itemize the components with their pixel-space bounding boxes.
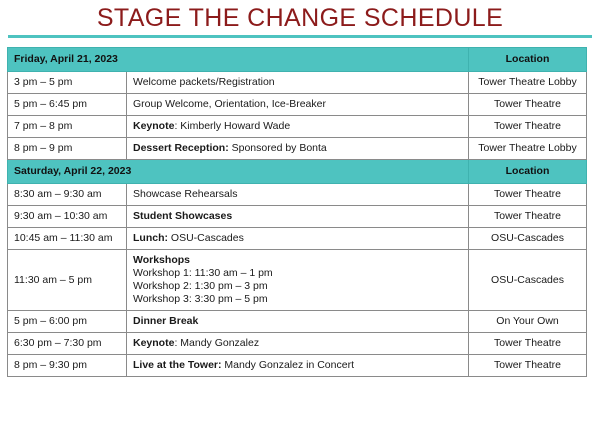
row-event: Keynote: Mandy Gonzalez bbox=[127, 333, 469, 355]
row-time: 8 pm – 9:30 pm bbox=[8, 355, 127, 377]
row-event: Lunch: OSU-Cascades bbox=[127, 228, 469, 250]
schedule-page: STAGE THE CHANGE SCHEDULE Friday, April … bbox=[0, 0, 600, 429]
row-event-lead: Keynote bbox=[133, 120, 174, 132]
row-location: OSU-Cascades bbox=[469, 228, 587, 250]
workshop-line-list: Workshop 1: 11:30 am – 1 pm Workshop 2: … bbox=[133, 267, 462, 306]
row-event-lead: Dessert Reception: bbox=[133, 142, 229, 154]
row-time: 11:30 am – 5 pm bbox=[8, 250, 127, 311]
row-event: Live at the Tower: Mandy Gonzalez in Con… bbox=[127, 355, 469, 377]
title-divider-rule bbox=[8, 35, 592, 38]
day-header-label-friday: Friday, April 21, 2023 bbox=[8, 48, 469, 72]
table-row: 6:30 pm – 7:30 pm Keynote: Mandy Gonzale… bbox=[8, 333, 587, 355]
row-location: Tower Theatre bbox=[469, 184, 587, 206]
row-event-lead: Dinner Break bbox=[133, 315, 198, 327]
location-header-friday: Location bbox=[469, 48, 587, 72]
workshop-line: Workshop 1: 11:30 am – 1 pm bbox=[133, 267, 462, 280]
row-location: Tower Theatre bbox=[469, 355, 587, 377]
row-event-text: Welcome packets/Registration bbox=[133, 76, 275, 88]
row-event-text: OSU-Cascades bbox=[168, 232, 244, 244]
row-event: Student Showcases bbox=[127, 206, 469, 228]
location-header-saturday: Location bbox=[469, 160, 587, 184]
row-event: Dinner Break bbox=[127, 311, 469, 333]
row-time: 6:30 pm – 7:30 pm bbox=[8, 333, 127, 355]
workshop-line: Workshop 3: 3:30 pm – 5 pm bbox=[133, 293, 462, 306]
table-row: 10:45 am – 11:30 am Lunch: OSU-Cascades … bbox=[8, 228, 587, 250]
row-time: 10:45 am – 11:30 am bbox=[8, 228, 127, 250]
table-row: 8 pm – 9 pm Dessert Reception: Sponsored… bbox=[8, 138, 587, 160]
row-location: OSU-Cascades bbox=[469, 250, 587, 311]
day-header-label-saturday: Saturday, April 22, 2023 bbox=[8, 160, 469, 184]
row-event: Keynote: Kimberly Howard Wade bbox=[127, 116, 469, 138]
day-header-row-friday: Friday, April 21, 2023 Location bbox=[8, 48, 587, 72]
row-location: Tower Theatre bbox=[469, 94, 587, 116]
row-location: On Your Own bbox=[469, 311, 587, 333]
row-event: Workshops Workshop 1: 11:30 am – 1 pm Wo… bbox=[127, 250, 469, 311]
row-event-lead: Keynote bbox=[133, 337, 174, 349]
row-location: Tower Theatre Lobby bbox=[469, 72, 587, 94]
table-row: 7 pm – 8 pm Keynote: Kimberly Howard Wad… bbox=[8, 116, 587, 138]
workshop-line: Workshop 2: 1:30 pm – 3 pm bbox=[133, 280, 462, 293]
page-title: STAGE THE CHANGE SCHEDULE bbox=[0, 0, 600, 32]
day-header-row-saturday: Saturday, April 22, 2023 Location bbox=[8, 160, 587, 184]
row-event-text: : Kimberly Howard Wade bbox=[174, 120, 290, 132]
row-time: 5 pm – 6:00 pm bbox=[8, 311, 127, 333]
row-event-text: : Mandy Gonzalez bbox=[174, 337, 259, 349]
row-event-text: Group Welcome, Orientation, Ice-Breaker bbox=[133, 98, 326, 110]
row-event: Showcase Rehearsals bbox=[127, 184, 469, 206]
row-time: 9:30 am – 10:30 am bbox=[8, 206, 127, 228]
row-event-lead: Lunch: bbox=[133, 232, 168, 244]
table-row: 9:30 am – 10:30 am Student Showcases Tow… bbox=[8, 206, 587, 228]
row-time: 8:30 am – 9:30 am bbox=[8, 184, 127, 206]
row-location: Tower Theatre bbox=[469, 333, 587, 355]
row-event-text: Mandy Gonzalez in Concert bbox=[222, 359, 354, 371]
row-time: 8 pm – 9 pm bbox=[8, 138, 127, 160]
schedule-table-body: Friday, April 21, 2023 Location 3 pm – 5… bbox=[8, 48, 587, 377]
table-row: 8:30 am – 9:30 am Showcase Rehearsals To… bbox=[8, 184, 587, 206]
row-location: Tower Theatre Lobby bbox=[469, 138, 587, 160]
row-time: 3 pm – 5 pm bbox=[8, 72, 127, 94]
table-row: 3 pm – 5 pm Welcome packets/Registration… bbox=[8, 72, 587, 94]
row-event: Group Welcome, Orientation, Ice-Breaker bbox=[127, 94, 469, 116]
row-event-text: Showcase Rehearsals bbox=[133, 188, 237, 200]
row-location: Tower Theatre bbox=[469, 116, 587, 138]
row-event-lead: Live at the Tower: bbox=[133, 359, 222, 371]
table-row-workshops: 11:30 am – 5 pm Workshops Workshop 1: 11… bbox=[8, 250, 587, 311]
schedule-table: Friday, April 21, 2023 Location 3 pm – 5… bbox=[7, 47, 587, 377]
row-location: Tower Theatre bbox=[469, 206, 587, 228]
table-row: 5 pm – 6:45 pm Group Welcome, Orientatio… bbox=[8, 94, 587, 116]
row-event: Welcome packets/Registration bbox=[127, 72, 469, 94]
schedule-table-wrapper: Friday, April 21, 2023 Location 3 pm – 5… bbox=[7, 47, 586, 377]
row-event-lead: Student Showcases bbox=[133, 210, 232, 222]
row-time: 5 pm – 6:45 pm bbox=[8, 94, 127, 116]
table-row: 8 pm – 9:30 pm Live at the Tower: Mandy … bbox=[8, 355, 587, 377]
table-row: 5 pm – 6:00 pm Dinner Break On Your Own bbox=[8, 311, 587, 333]
row-event-text: Sponsored by Bonta bbox=[229, 142, 327, 154]
row-event: Dessert Reception: Sponsored by Bonta bbox=[127, 138, 469, 160]
row-event-lead: Workshops bbox=[133, 254, 190, 266]
row-time: 7 pm – 8 pm bbox=[8, 116, 127, 138]
